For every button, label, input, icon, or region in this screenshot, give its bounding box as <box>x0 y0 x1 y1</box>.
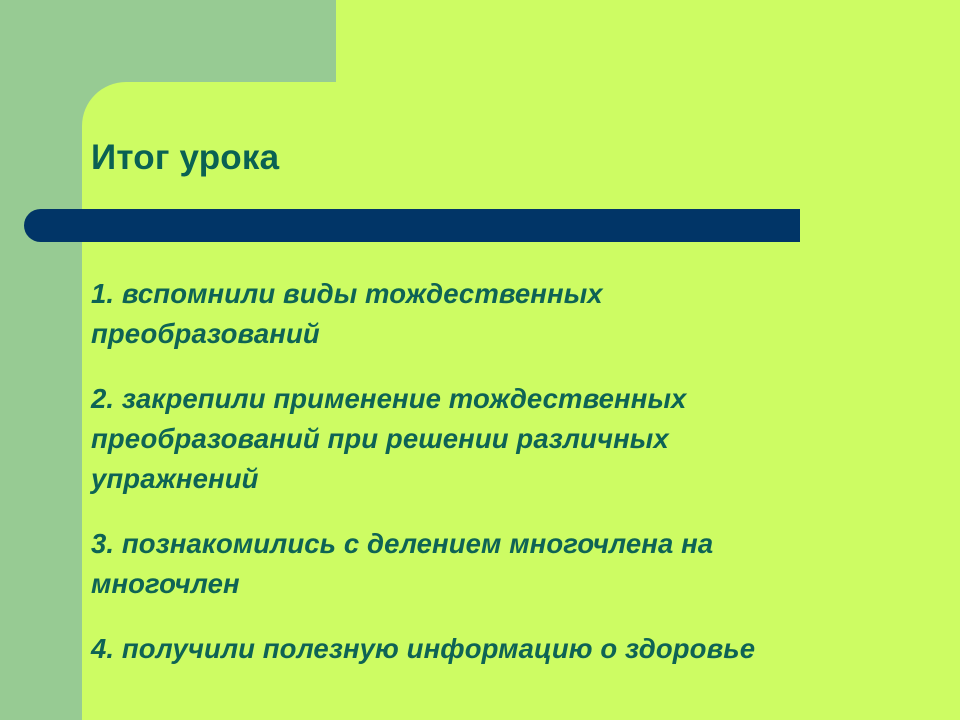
list-item: 1. вспомнили виды тождественных преобраз… <box>91 274 731 354</box>
title-underline-bar <box>24 209 800 242</box>
slide-canvas: Итог урока 1. вспомнили виды тождественн… <box>0 0 960 720</box>
list-item: 3. познакомились с делением многочлена н… <box>91 524 841 604</box>
slide-title: Итог урока <box>91 137 811 179</box>
slide-body-list: 1. вспомнили виды тождественных преобраз… <box>91 274 901 669</box>
list-item: 4. получили полезную информацию о здоров… <box>91 629 901 669</box>
list-item: 2. закрепили применение тождественных пр… <box>91 379 821 499</box>
panel-top-right-fill <box>336 0 960 83</box>
